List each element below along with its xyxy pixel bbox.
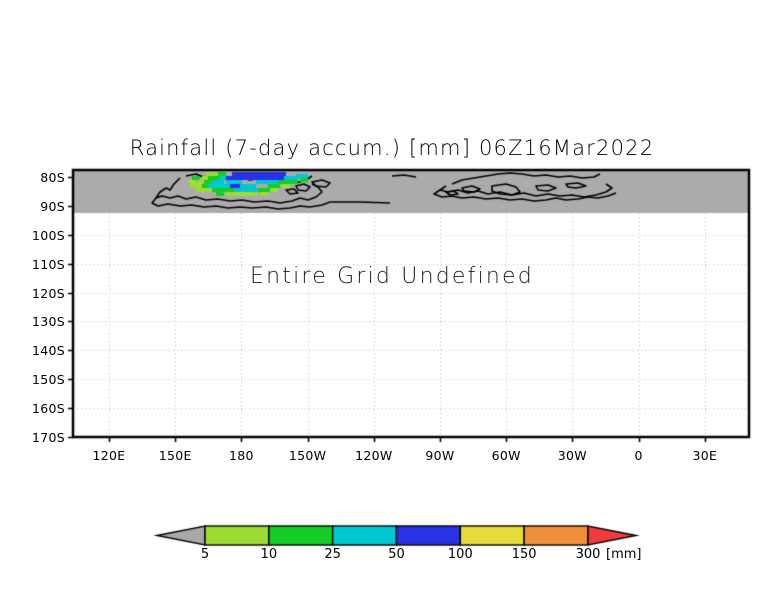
x-tick-label: 180 [206,448,276,463]
y-tick-label: 140S [5,343,65,358]
colorbar-tick-label: 10 [244,547,294,562]
y-tick-label: 110S [5,257,65,272]
x-tick-label: 150W [273,448,343,463]
x-tick-label: 0 [604,448,674,463]
y-tick-label: 80S [5,170,65,185]
y-tick-label: 130S [5,314,65,329]
colorbar-tick-label: 25 [308,547,358,562]
page-title: Rainfall (7-day accum.) [mm] 06Z16Mar202… [0,136,784,160]
entire-grid-undefined-note: Entire Grid Undefined [0,264,784,289]
colorbar-tick-label: 150 [499,547,549,562]
y-tick-label: 120S [5,286,65,301]
colorbar-tick-label: 50 [372,547,422,562]
y-tick-label: 90S [5,199,65,214]
rainfall-map-canvas [0,0,784,612]
x-tick-label: 30W [537,448,607,463]
x-tick-label: 30E [670,448,740,463]
y-tick-label: 170S [5,430,65,445]
x-tick-label: 120E [74,448,144,463]
colorbar-unit-label: [mm] [606,547,641,562]
x-tick-label: 90W [405,448,475,463]
y-tick-label: 160S [5,401,65,416]
x-tick-label: 60W [471,448,541,463]
colorbar-tick-label: 100 [435,547,485,562]
y-tick-label: 100S [5,228,65,243]
x-tick-label: 150E [140,448,210,463]
x-tick-label: 120W [339,448,409,463]
y-tick-label: 150S [5,372,65,387]
colorbar-tick-label: 5 [180,547,230,562]
